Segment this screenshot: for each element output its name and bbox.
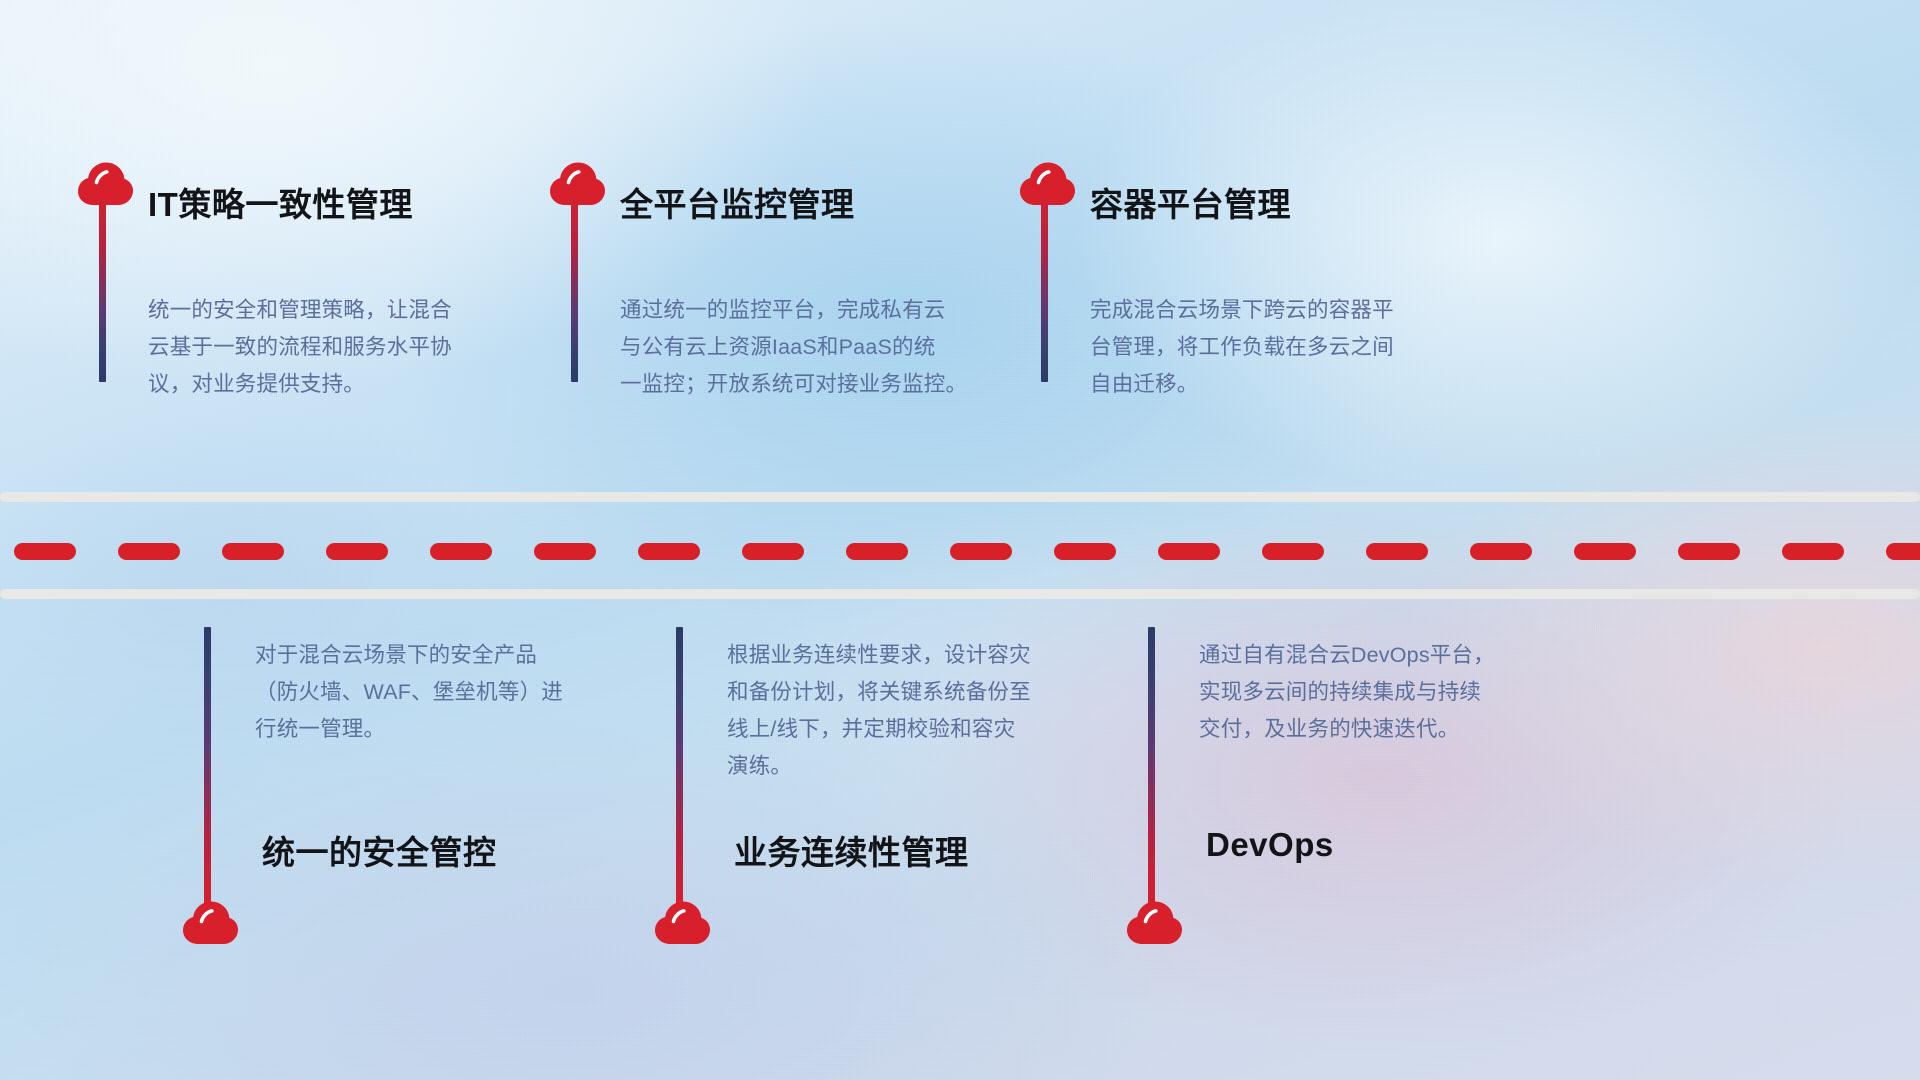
road-dash bbox=[638, 543, 700, 560]
road-dash bbox=[430, 543, 492, 560]
road-dash bbox=[1886, 543, 1920, 560]
road-line-top bbox=[0, 492, 1920, 502]
road-dash bbox=[1574, 543, 1636, 560]
marker-stem bbox=[204, 627, 211, 910]
road-dash bbox=[118, 543, 180, 560]
road-dash bbox=[1782, 543, 1844, 560]
bottom-item-heading: 业务连续性管理 bbox=[734, 826, 969, 874]
road-dash bbox=[846, 543, 908, 560]
road-dash bbox=[326, 543, 388, 560]
road-line-bottom bbox=[0, 589, 1920, 599]
top-item-body: 通过统一的监控平台，完成私有云 与公有云上资源IaaS和PaaS的统 一监控；开… bbox=[620, 292, 1020, 403]
road-dash bbox=[1678, 543, 1740, 560]
infographic-canvas: IT策略一致性管理 统一的安全和管理策略，让混合 云基于一致的流程和服务水平协 … bbox=[0, 0, 1920, 1080]
bottom-item-heading: DevOps bbox=[1206, 826, 1334, 864]
cloud-icon bbox=[653, 899, 711, 945]
road-dash bbox=[1262, 543, 1324, 560]
marker-stem bbox=[1041, 192, 1048, 382]
road-dash bbox=[950, 543, 1012, 560]
bottom-item-body: 根据业务连续性要求，设计容灾 和备份计划，将关键系统备份至 线上/线下，并定期校… bbox=[727, 637, 1127, 785]
road-dashed-center bbox=[0, 542, 1920, 560]
top-item-heading: 全平台监控管理 bbox=[620, 178, 855, 226]
bottom-item-heading: 统一的安全管控 bbox=[262, 826, 497, 874]
road-dash bbox=[1158, 543, 1220, 560]
top-item-heading: 容器平台管理 bbox=[1090, 178, 1291, 226]
marker-stem bbox=[99, 192, 106, 382]
marker-stem bbox=[571, 192, 578, 382]
road-dash bbox=[14, 543, 76, 560]
road-dash bbox=[534, 543, 596, 560]
bottom-item-body: 通过自有混合云DevOps平台， 实现多云间的持续集成与持续 交付，及业务的快速… bbox=[1199, 637, 1599, 748]
top-item-body: 统一的安全和管理策略，让混合 云基于一致的流程和服务水平协 议，对业务提供支持。 bbox=[148, 292, 528, 403]
road-dash bbox=[1366, 543, 1428, 560]
cloud-icon bbox=[1125, 899, 1183, 945]
marker-stem bbox=[1148, 627, 1155, 910]
background-texture bbox=[0, 0, 1920, 1080]
road-dash bbox=[1054, 543, 1116, 560]
cloud-icon bbox=[181, 899, 239, 945]
top-item-body: 完成混合云场景下跨云的容器平 台管理，将工作负载在多云之间 自由迁移。 bbox=[1090, 292, 1490, 403]
bottom-item-body: 对于混合云场景下的安全产品 （防火墙、WAF、堡垒机等）进 行统一管理。 bbox=[255, 637, 655, 748]
road-dash bbox=[1470, 543, 1532, 560]
road-dash bbox=[222, 543, 284, 560]
marker-stem bbox=[676, 627, 683, 910]
road-dash bbox=[742, 543, 804, 560]
top-item-heading: IT策略一致性管理 bbox=[148, 178, 413, 226]
